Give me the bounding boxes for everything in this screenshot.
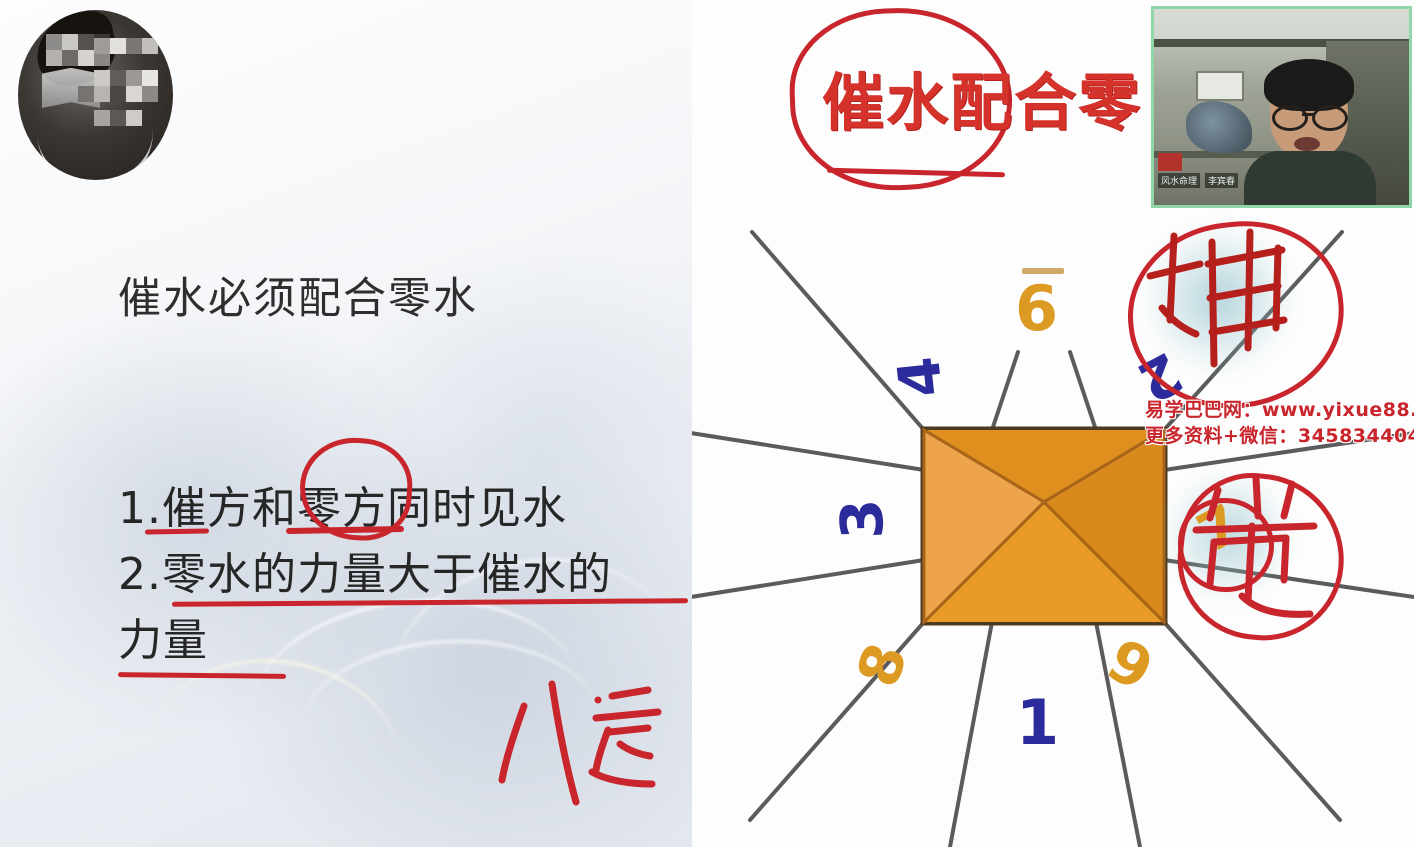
logo-mosaic-row: [94, 110, 142, 126]
brand-logo-icon: [18, 10, 173, 180]
page-title: 催水必须配合零水: [118, 264, 478, 326]
webcam-label-left: 风水命理: [1158, 173, 1200, 188]
overline-6: [1022, 268, 1064, 274]
glasses-icon: [1272, 105, 1346, 125]
list-item-continuation: 力量: [118, 604, 208, 668]
watermark-line-2: 更多资料+微信：3458344044: [1145, 424, 1414, 450]
video-frame: 催水必须配合零水 1.催方和零方同时见水 2.零水的力量大于催水的 力量: [0, 0, 1414, 847]
sector-number-4: 4: [889, 354, 951, 400]
sector-number-6: 6: [1015, 278, 1058, 340]
watermark: 易学巴巴网：www.yixue88.cn 更多资料+微信：3458344044: [1145, 398, 1414, 449]
sector-number-1: 1: [1016, 692, 1059, 754]
presenter-mouth: [1294, 137, 1320, 151]
presenter-figure: [1250, 67, 1370, 207]
webcam-label-right: 李宾春: [1205, 173, 1238, 188]
logo-mosaic-row: [94, 70, 158, 86]
handwriting-dui: [1144, 224, 1314, 394]
logo-mosaic-row: [94, 38, 158, 54]
handwriting-bayun: [480, 676, 692, 826]
red-underline-4: [118, 672, 286, 679]
house-shape: [924, 430, 1164, 622]
wall-picture: [1196, 71, 1244, 101]
watermark-line-1: 易学巴巴网：www.yixue88.cn: [1145, 398, 1414, 424]
red-object: [1158, 153, 1182, 171]
presenter-hair: [1264, 59, 1354, 111]
sector-number-3: 3: [832, 498, 891, 540]
left-slide-panel: 催水必须配合零水 1.催方和零方同时见水 2.零水的力量大于催水的 力量: [0, 0, 692, 847]
logo-mosaic-row: [78, 86, 158, 102]
presenter-torso: [1244, 151, 1376, 208]
webcam-overlay[interactable]: 风水命理 李宾春: [1151, 6, 1412, 208]
webcam-name-bar: 风水命理 李宾春: [1158, 173, 1238, 188]
handwriting-guang: [1182, 468, 1352, 638]
list-item: 2.零水的力量大于催水的: [118, 538, 612, 602]
